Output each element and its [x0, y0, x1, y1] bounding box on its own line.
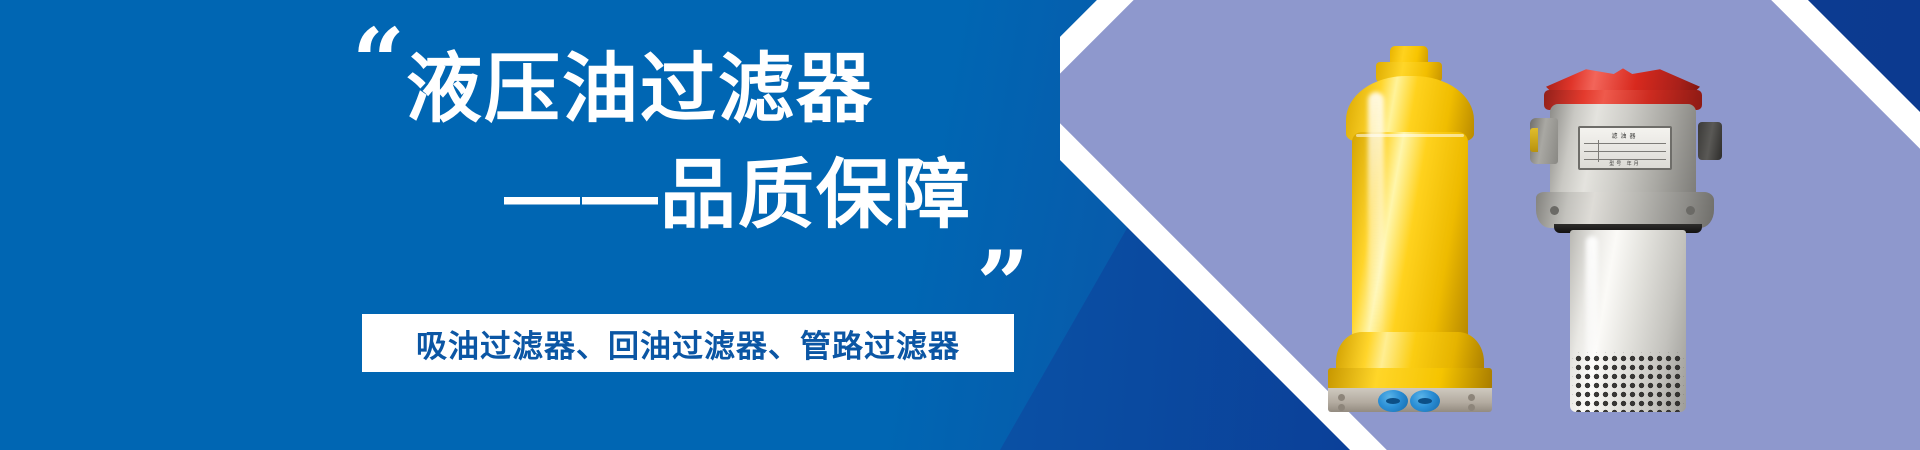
yellow-filter-port-left — [1378, 390, 1408, 412]
diamond-panel — [1079, 0, 1920, 450]
product-image-grey-filter: 滤油器 型号 年月 — [1528, 56, 1718, 412]
grey-filter-nameplate: 滤油器 型号 年月 — [1578, 126, 1672, 170]
grey-filter-bolt — [1550, 206, 1559, 215]
yellow-filter-highlight — [1368, 92, 1384, 350]
headline-line-2: ——品质保障 — [406, 156, 972, 236]
nameplate-divider — [1598, 140, 1599, 162]
nameplate-rule — [1584, 151, 1666, 152]
nameplate-rule — [1584, 143, 1666, 144]
headline-block: “ 液压油过滤器 ——品质保障 „ 吸油过滤器、回油过滤器、管路过滤器 — [0, 0, 1060, 450]
yellow-filter-bolt — [1468, 394, 1475, 401]
yellow-filter-base-block — [1328, 368, 1492, 390]
yellow-filter-bolt — [1338, 404, 1345, 411]
promo-banner: 滤油器 型号 年月 “ 液压油过滤器 ——品质保障 „ 吸油过滤器、回油过滤器、… — [0, 0, 1920, 450]
quote-open-icon: “ — [352, 16, 403, 108]
grey-filter-perforated-mesh — [1572, 352, 1684, 412]
nameplate-title: 滤油器 — [1580, 131, 1670, 140]
yellow-filter-bolt — [1338, 394, 1345, 401]
subtitle-box: 吸油过滤器、回油过滤器、管路过滤器 — [362, 314, 1014, 372]
grey-filter-side-port — [1530, 118, 1558, 164]
yellow-filter-port-right — [1410, 390, 1440, 412]
subtitle-text: 吸油过滤器、回油过滤器、管路过滤器 — [416, 321, 960, 366]
quote-close-icon: „ — [978, 186, 1029, 278]
product-image-yellow-filter — [1322, 46, 1498, 412]
headline-line-1: 液压油过滤器 — [406, 50, 874, 130]
yellow-filter-bolt — [1468, 404, 1475, 411]
grey-filter-indicator-knob — [1698, 122, 1722, 160]
grey-filter-bolt — [1686, 206, 1695, 215]
nameplate-footer: 型号 年月 — [1580, 160, 1670, 167]
